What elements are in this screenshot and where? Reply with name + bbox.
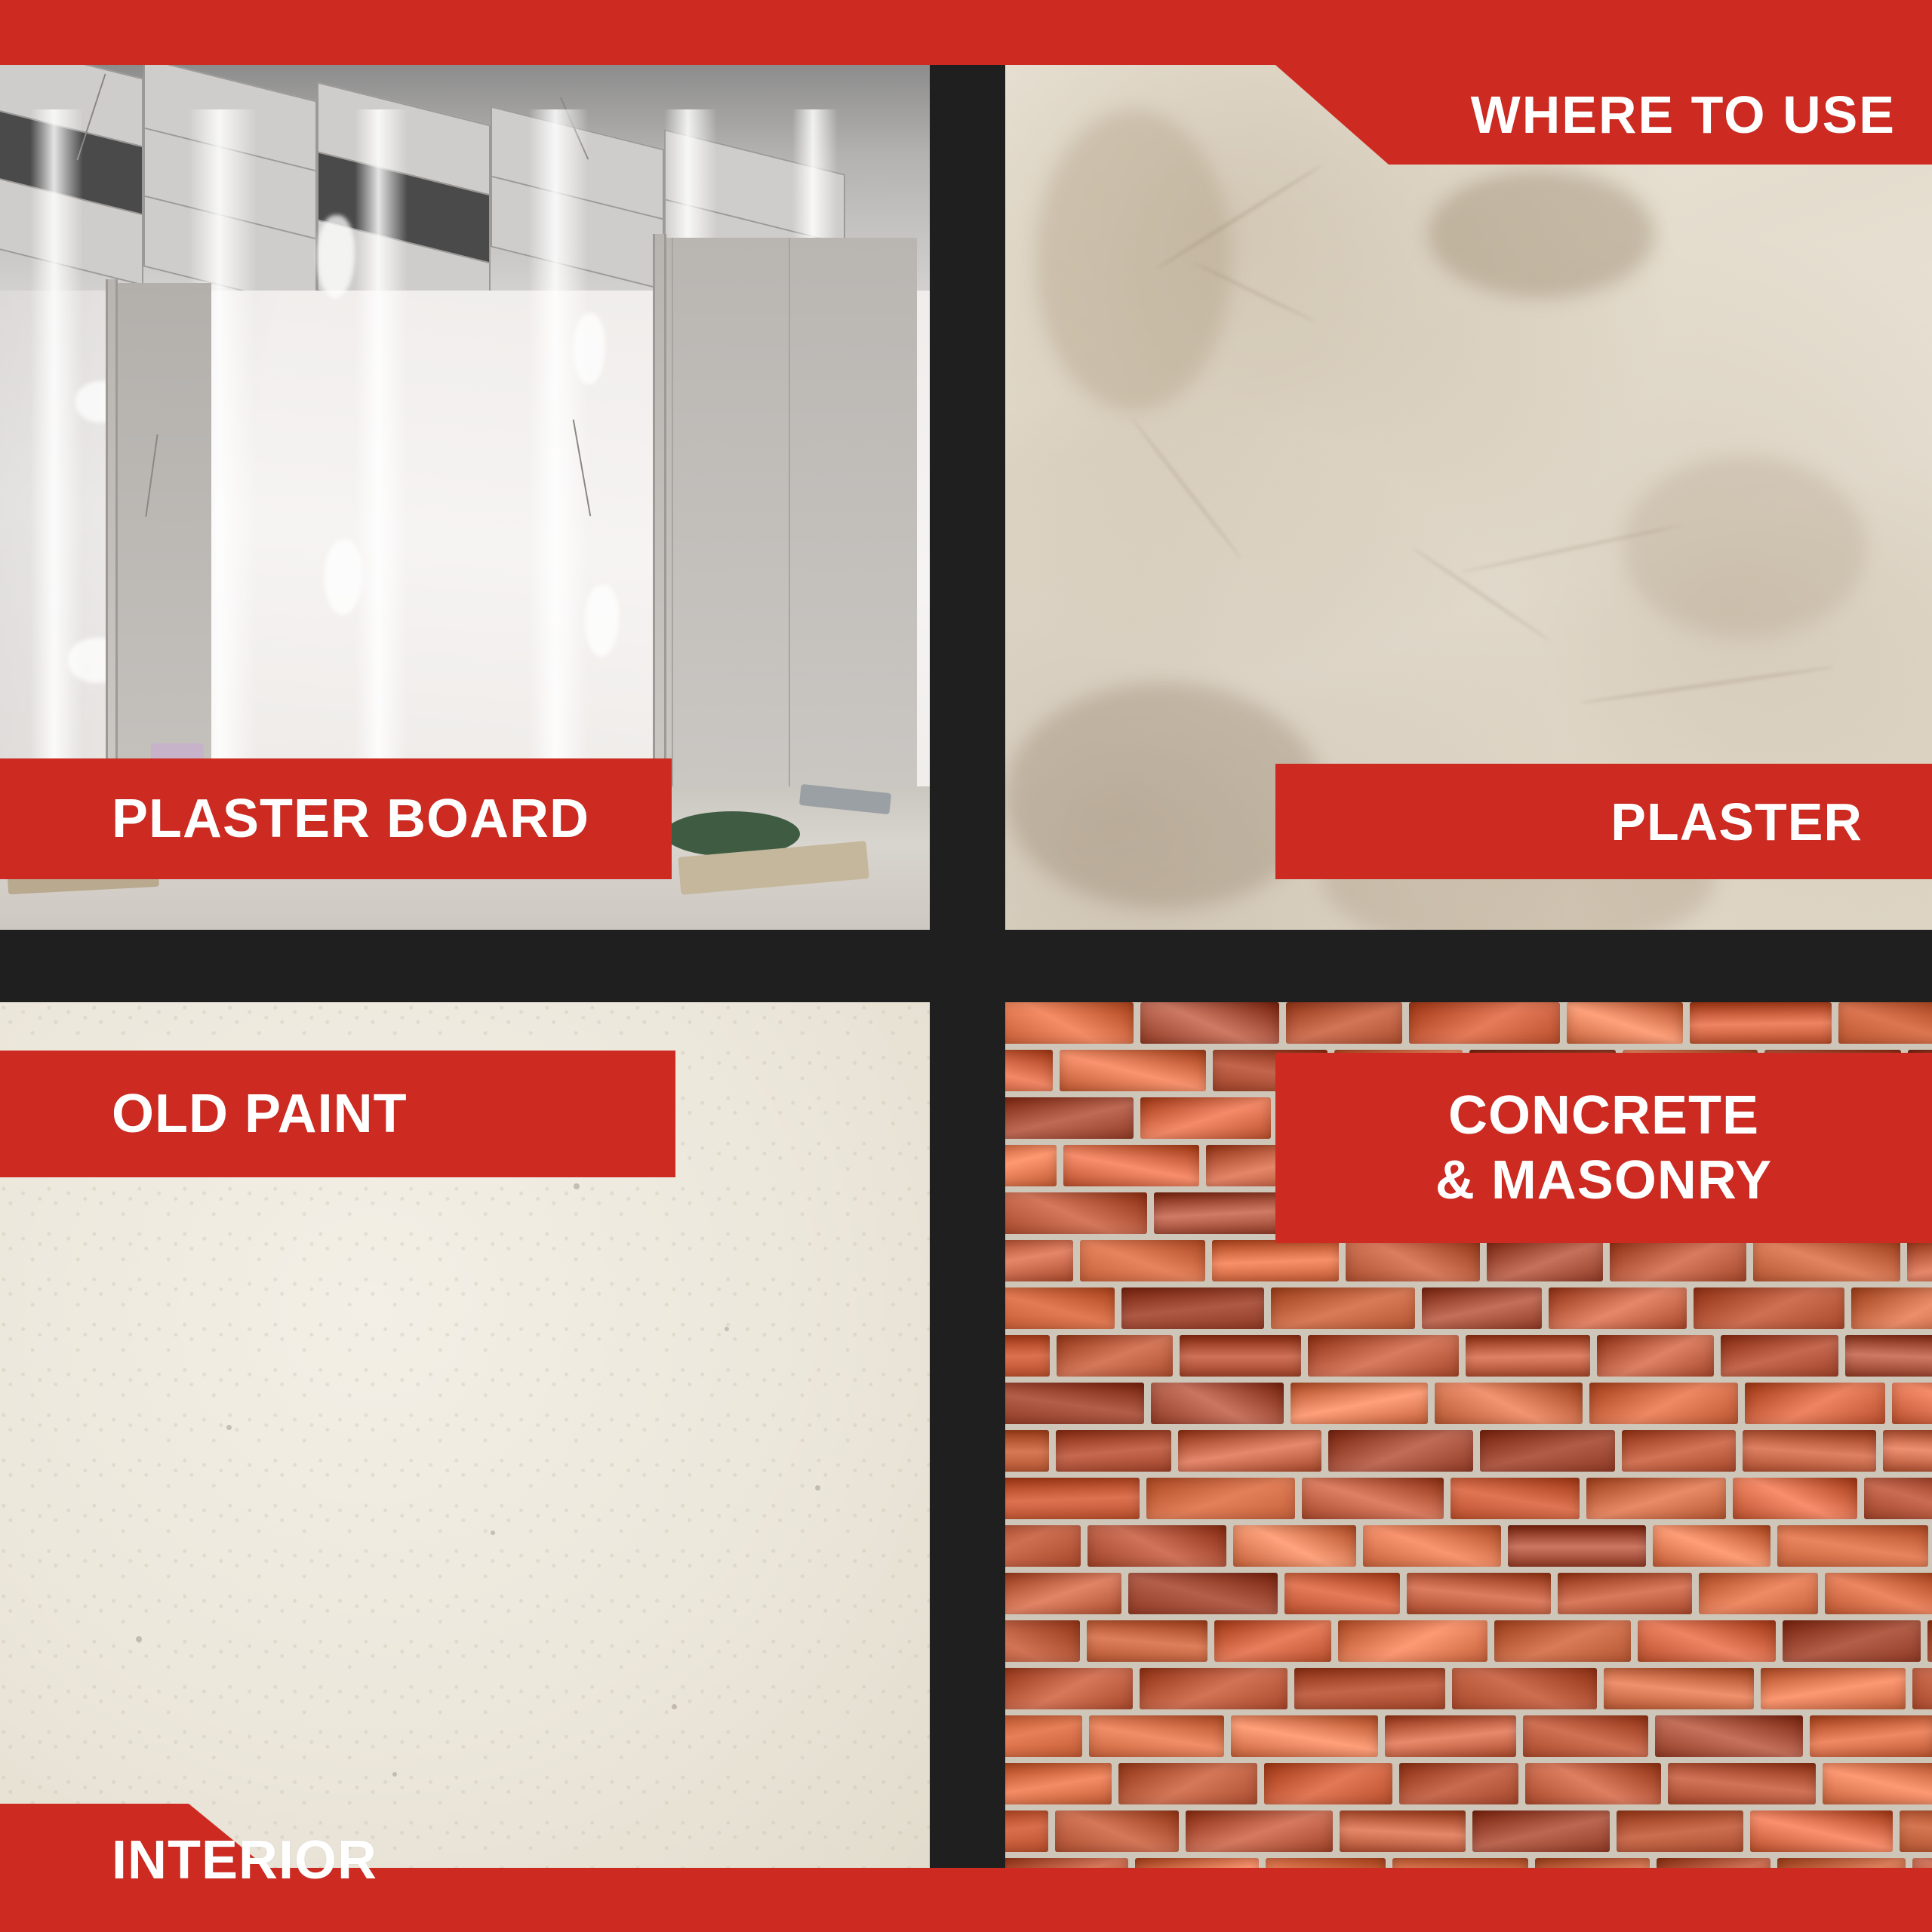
label-concrete-line1: CONCRETE: [1448, 1088, 1759, 1143]
label-banner-plaster-board: PLASTER BOARD: [0, 758, 672, 879]
label-old-paint: OLD PAINT: [112, 1051, 408, 1177]
label-banner-old-paint: OLD PAINT: [0, 1051, 675, 1177]
label-concrete-line2: & MASONRY: [1435, 1153, 1772, 1207]
label-plaster: PLASTER: [1611, 764, 1863, 879]
label-plaster-board: PLASTER BOARD: [112, 758, 589, 879]
page-title: WHERE TO USE: [1471, 65, 1896, 165]
header-red-band: [0, 0, 1932, 65]
label-banner-plaster: PLASTER: [1275, 764, 1932, 879]
label-banner-concrete-masonry: CONCRETE & MASONRY: [1275, 1053, 1932, 1243]
poster-canvas: WHERE TO USE PLASTER BOARD PLASTER OLD P…: [0, 0, 1932, 1932]
footer-label: INTERIOR: [112, 1811, 377, 1909]
